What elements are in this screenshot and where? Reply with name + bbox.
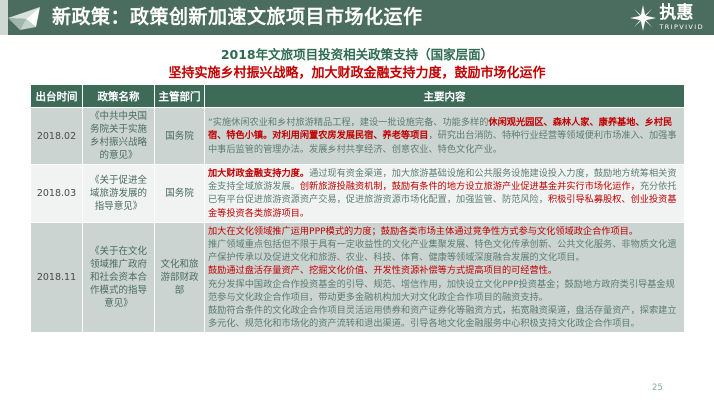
body-text: “实施休闲农业和乡村旅游精品工程，建设一批设施完备、功能多样的 — [208, 117, 488, 128]
content-paragraph: 鼓励通过盘活存量资产、挖掘文化价值、开发性资源补偿等方式提高项目的可经营性。 — [208, 264, 681, 277]
cell-policy-name: 《关于在文化领域推广政府和社会资本合作模式的指导意见》 — [83, 222, 155, 333]
subtitle-secondary: 坚持实施乡村振兴战略，加大财政金融支持力度，鼓励市场化运作 — [0, 62, 714, 81]
brand-name-cn: 执惠 — [659, 5, 704, 22]
brand-logo: 执惠 TRIPVIVID — [630, 3, 704, 33]
cell-policy-name: 《关于促进全域旅游发展的指导意见》 — [83, 165, 155, 223]
column-header-date: 出台时间 — [31, 85, 83, 108]
cell-policy-content: 加大在文化领域推广运用PPP模式的力度；鼓励各类市场主体通过竞争性方式参与文化领… — [205, 222, 685, 333]
cell-policy-department: 文化和旅游部财政部 — [155, 222, 205, 333]
body-text: 充分发挥中国政企合作投资基金的引导、规范、增信作用，加快设立文化PPP投资基金；… — [208, 279, 675, 303]
subtitle-primary: 2018年文旅项目投资相关政策支持（国家层面） — [0, 44, 714, 63]
column-header-name: 政策名称 — [83, 85, 155, 108]
content-paragraph: 推广领域重点包括但不限于具有一定收益性的文化产业集聚发展、特色文化传承创新、公共… — [208, 238, 681, 264]
table-row: 2018.02《中共中央国务院关于实施乡村振兴战略的意见》国务院“实施休闲农业和… — [31, 108, 685, 165]
paper-plane-icon — [6, 3, 48, 33]
content-paragraph: 鼓励符合条件的文化政企合作项目灵活运用债券和资产证券化等融资方式，拓宽融资渠道，… — [208, 304, 681, 330]
highlight-text: 加大在文化领域推广运用PPP模式的力度；鼓励各类市场主体通过竞争性方式参与文化领… — [208, 226, 638, 237]
policy-table: 出台时间 政策名称 主管部门 主要内容 2018.02《中共中央国务院关于实施乡… — [30, 84, 685, 333]
cell-policy-date: 2018.02 — [31, 108, 83, 165]
highlight-text: 鼓励通过盘活存量资产、挖掘文化价值、开发性资源补偿等方式提高项目的可经营性。 — [208, 265, 557, 276]
highlight-bold-text: 加大财政金融支持力度。 — [208, 168, 309, 179]
content-paragraph: 加大在文化领域推广运用PPP模式的力度；鼓励各类市场主体通过竞争性方式参与文化领… — [208, 225, 681, 238]
page-title: 新政策：政策创新加速文旅项目市场化运作 — [52, 4, 423, 31]
body-text: 推广领域重点包括但不限于具有一定收益性的文化产业集聚发展、特色文化传承创新、公共… — [208, 239, 677, 263]
cell-policy-department: 国务院 — [155, 108, 205, 165]
slide-header-bar: 新政策：政策创新加速文旅项目市场化运作 执惠 TRIPVIVID — [0, 0, 714, 35]
star-burst-icon — [630, 5, 656, 31]
slide-number: 25 — [652, 383, 663, 393]
cell-policy-content: 加大财政金融支持力度。通过现有资金渠道，加大旅游基础设施和公共服务设施建设投入力… — [205, 165, 685, 223]
column-header-dept: 主管部门 — [155, 85, 205, 108]
brand-text: 执惠 TRIPVIVID — [659, 5, 704, 31]
table-body: 2018.02《中共中央国务院关于实施乡村振兴战略的意见》国务院“实施休闲农业和… — [31, 108, 685, 333]
cell-policy-date: 2018.11 — [31, 222, 83, 333]
table-header-row: 出台时间 政策名称 主管部门 主要内容 — [31, 85, 685, 108]
column-header-content: 主要内容 — [205, 85, 685, 108]
table-row: 2018.03《关于促进全域旅游发展的指导意见》国务院加大财政金融支持力度。通过… — [31, 165, 685, 223]
cell-policy-name: 《中共中央国务院关于实施乡村振兴战略的意见》 — [83, 108, 155, 165]
cell-policy-date: 2018.03 — [31, 165, 83, 223]
content-paragraph: 加大财政金融支持力度。通过现有资金渠道，加大旅游基础设施和公共服务设施建设投入力… — [208, 167, 681, 220]
cell-policy-content: “实施休闲农业和乡村旅游精品工程，建设一批设施完备、功能多样的休闲观光园区、森林… — [205, 108, 685, 165]
brand-name-en: TRIPVIVID — [659, 24, 704, 31]
table-row: 2018.11《关于在文化领域推广政府和社会资本合作模式的指导意见》文化和旅游部… — [31, 222, 685, 333]
body-text: 鼓励符合条件的文化政企合作项目灵活运用债券和资产证券化等融资方式，拓宽融资渠道，… — [208, 305, 677, 329]
highlight-text: 创新旅游投融资机制，鼓励有条件的地方设立旅游产业促进基金并实行市场化运作， — [300, 181, 640, 192]
content-paragraph: “实施休闲农业和乡村旅游精品工程，建设一批设施完备、功能多样的休闲观光园区、森林… — [208, 116, 681, 156]
content-paragraph: 充分发挥中国政企合作投资基金的引导、规范、增信作用，加快设立文化PPP投资基金；… — [208, 278, 681, 304]
cell-policy-department: 国务院 — [155, 165, 205, 223]
